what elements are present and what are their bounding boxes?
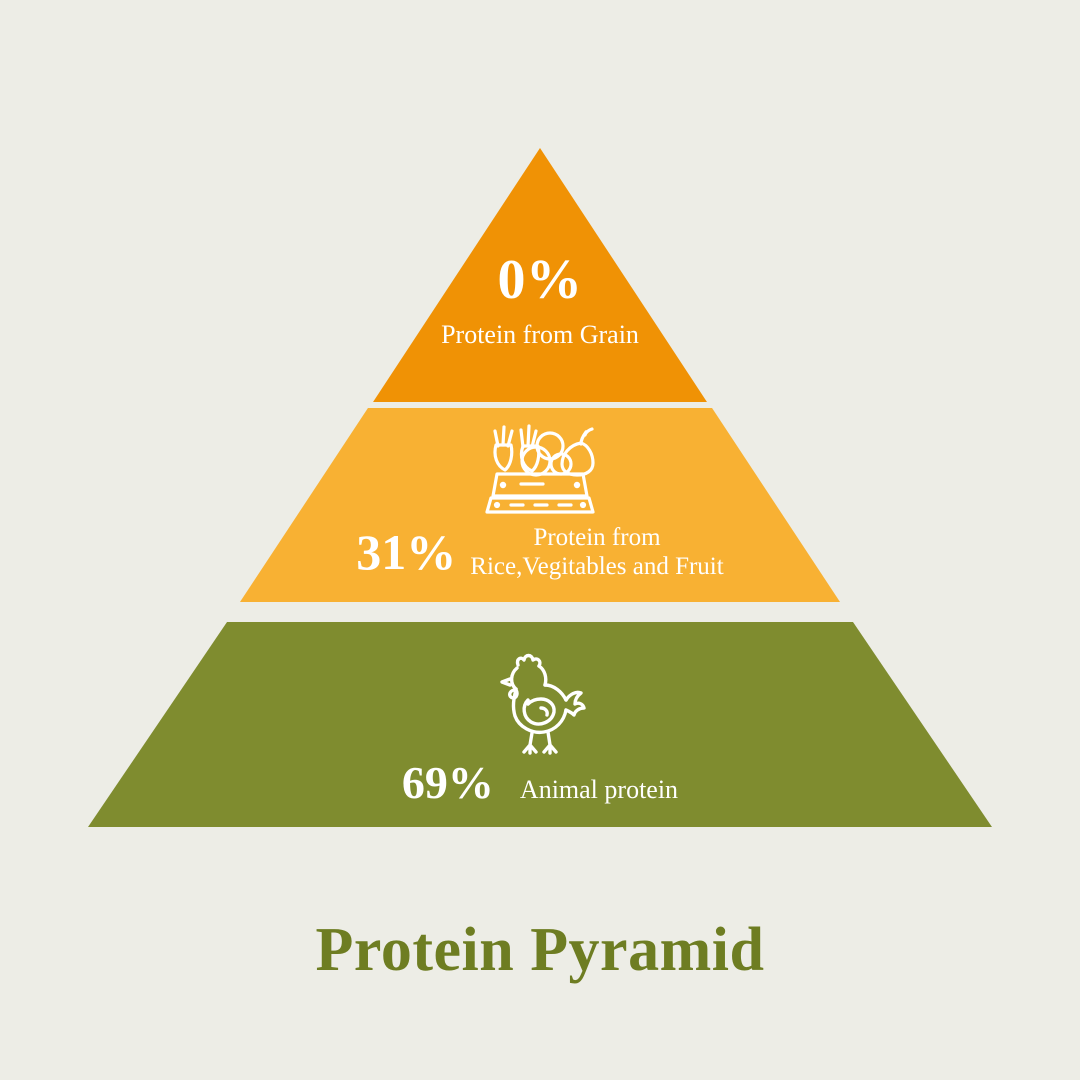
chicken-icon: [0, 648, 1080, 758]
protein-pyramid-infographic: 0% Protein from Grain: [0, 0, 1080, 1080]
produce-crate-icon: [0, 418, 1080, 514]
pyramid-chart: 0% Protein from Grain: [0, 0, 1080, 870]
page-title: Protein Pyramid: [0, 915, 1080, 986]
pyramid-tier-grain[interactable]: [0, 140, 1080, 402]
